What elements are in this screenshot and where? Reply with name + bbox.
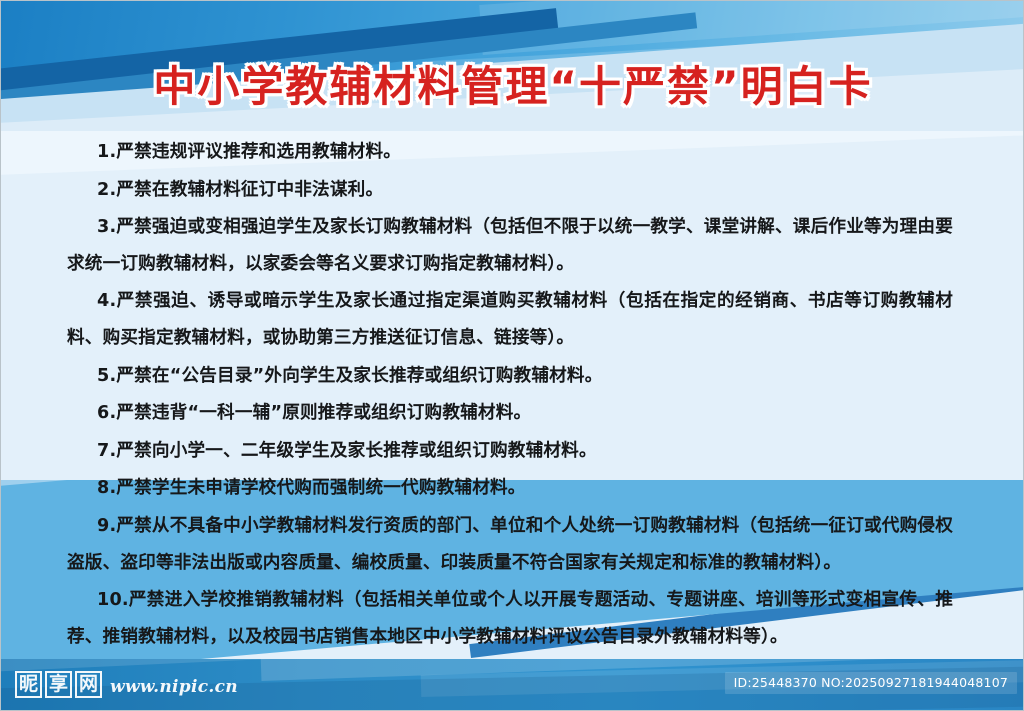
rule-item-3: 3.严禁强迫或变相强迫学生及家长订购教辅材料（包括但不限于以统一教学、课堂讲解、… xyxy=(67,209,953,282)
rule-item-2: 2.严禁在教辅材料征订中非法谋利。 xyxy=(67,172,953,209)
rule-item-4: 4.严禁强迫、诱导或暗示学生及家长通过指定渠道购买教辅材料（包括在指定的经销商、… xyxy=(67,283,953,356)
watermark-logo: 昵 享 网 xyxy=(15,671,102,698)
rule-item-5: 5.严禁在“公告目录”外向学生及家长推荐或组织订购教辅材料。 xyxy=(67,358,953,395)
site-watermark: 昵 享 网 www.nipic.cn xyxy=(15,671,238,698)
rule-item-10: 10.严禁进入学校推销教辅材料（包括相关单位或个人以开展专题活动、专题讲座、培训… xyxy=(67,582,953,655)
page-title-wrapper: 中小学教辅材料管理“十严禁”明白卡 xyxy=(1,59,1024,121)
rule-item-6: 6.严禁违背“一科一辅”原则推荐或组织订购教辅材料。 xyxy=(67,395,953,432)
rule-item-8: 8.严禁学生未申请学校代购而强制统一代购教辅材料。 xyxy=(67,470,953,507)
page-title: 中小学教辅材料管理“十严禁”明白卡 xyxy=(153,59,872,115)
watermark-url: www.nipic.cn xyxy=(110,676,238,698)
rule-item-1: 1.严禁违规评议推荐和选用教辅材料。 xyxy=(67,134,953,171)
watermark-char-1: 昵 xyxy=(15,671,42,698)
poster-canvas: 中小学教辅材料管理“十严禁”明白卡 1.严禁违规评议推荐和选用教辅材料。 2.严… xyxy=(0,0,1024,711)
watermark-char-2: 享 xyxy=(45,671,72,698)
rule-item-9: 9.严禁从不具备中小学教辅材料发行资质的部门、单位和个人处统一订购教辅材料（包括… xyxy=(67,508,953,581)
rules-list: 1.严禁违规评议推荐和选用教辅材料。 2.严禁在教辅材料征订中非法谋利。 3.严… xyxy=(1,134,1024,654)
footer-bar: 昵 享 网 www.nipic.cn ID:25448370 NO:202509… xyxy=(1,659,1024,710)
watermark-char-3: 网 xyxy=(75,671,102,698)
rule-item-7: 7.严禁向小学一、二年级学生及家长推荐或组织订购教辅材料。 xyxy=(67,433,953,470)
image-id-badge: ID:25448370 NO:20250927181944048107 xyxy=(725,672,1017,694)
